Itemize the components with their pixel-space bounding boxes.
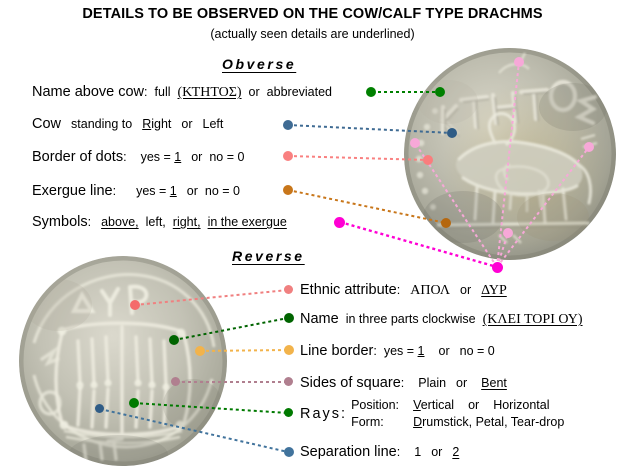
dot-symbol-right <box>584 142 594 152</box>
row-value-greek-full: (ΚΤΗΤΟΣ) <box>178 85 242 100</box>
row-option-two: 2 <box>452 445 459 459</box>
dot-anchor-rays <box>129 398 139 408</box>
rays-form-key: Form: <box>351 414 413 431</box>
dot-separation-line <box>284 447 294 457</box>
row-colon: : <box>373 344 376 358</box>
row-option-bent: Bent <box>481 376 507 390</box>
obverse-section-heading: Obverse <box>222 56 296 72</box>
row-colon: : <box>144 85 147 99</box>
row-mid: standing to <box>71 117 132 131</box>
row-colon: : <box>397 283 400 297</box>
row-label: Ethnic attribute <box>300 282 397 298</box>
row-or: or <box>181 117 192 131</box>
row-or: or <box>187 184 198 198</box>
rays-position-key: Position: <box>351 397 413 414</box>
dot-anchor-dots <box>423 155 433 165</box>
obverse-row-exergue-line: Exergue line:yes = 1orno = 0 <box>32 183 240 199</box>
row-or: or <box>249 85 260 99</box>
row-option-left: left, <box>146 215 166 229</box>
dot-anchor-name <box>169 335 179 345</box>
row-mid: in three parts clockwise <box>346 312 476 326</box>
dot-anchor-cow <box>447 128 457 138</box>
obverse-row-cow-standing: Cowstanding toRightorLeft <box>32 116 223 132</box>
rays-form-line: Form:Drumstick, Petal, Tear-drop <box>351 414 564 431</box>
row-option-dyr: ΔΥΡ <box>481 283 507 298</box>
row-label: Cow <box>32 116 61 132</box>
reverse-row-rays: Rays: Position:VerticalorHorizontal Form… <box>300 397 564 431</box>
row-label: Exergue line <box>32 183 113 199</box>
rays-form-options: Drumstick, Petal, Tear-drop <box>413 415 564 429</box>
obverse-row-symbols: Symbols:above,left,right,in the exergue <box>32 214 287 230</box>
dot-symbols <box>334 217 345 228</box>
row-or: or <box>431 445 442 459</box>
row-colon: : <box>123 150 126 164</box>
row-option-left: Left <box>203 117 224 131</box>
dot-anchor-exergue <box>441 218 451 228</box>
dot-border-of-dots <box>283 151 293 161</box>
row-option-no: no = 0 <box>205 184 240 198</box>
row-colon: : <box>401 376 404 390</box>
row-option-in-exergue: in the exergue <box>208 215 287 229</box>
obverse-row-border-of-dots: Border of dots:yes = 1orno = 0 <box>32 149 244 165</box>
row-option-yes: yes = 1 <box>141 150 182 164</box>
reverse-section-heading: Reverse <box>232 248 305 264</box>
dot-anchor-separation <box>95 404 104 413</box>
row-option-no: no = 0 <box>209 150 244 164</box>
dot-symbol-exergue <box>503 228 513 238</box>
rays-position-line: Position:VerticalorHorizontal <box>351 397 564 414</box>
dot-exergue-line <box>283 185 293 195</box>
row-label: Separation line <box>300 444 397 460</box>
reverse-row-separation-line: Separation line:1or2 <box>300 444 459 460</box>
rays-position-vertical: Vertical <box>413 398 454 412</box>
row-option-right: right, <box>173 215 201 229</box>
dot-anchor-legend <box>435 87 445 97</box>
page-title: DETAILS TO BE OBSERVED ON THE COW/CALF T… <box>0 6 625 22</box>
dot-name-three-parts <box>284 313 294 323</box>
row-colon: : <box>397 445 400 459</box>
reverse-row-name-three-parts: Namein three parts clockwise(ΚΛΕΙ ΤΟΡΙ Ο… <box>300 311 583 328</box>
row-colon: : <box>88 215 91 229</box>
row-or: or <box>456 376 467 390</box>
reverse-coin-image <box>18 255 228 467</box>
row-option-full: full <box>155 85 171 99</box>
row-label: Name <box>300 311 339 327</box>
dot-anchor-ethnic <box>130 300 140 310</box>
row-label: Symbols <box>32 214 88 230</box>
row-option-plain: Plain <box>418 376 446 390</box>
row-option-yes: yes = 1 <box>136 184 177 198</box>
row-label: Border of dots <box>32 149 123 165</box>
reverse-coin-art <box>18 255 228 467</box>
row-or: or <box>460 283 471 297</box>
dot-line-border <box>284 345 294 355</box>
dot-sides-of-square <box>284 377 293 386</box>
row-label: Name above cow <box>32 84 144 100</box>
row-or: or <box>439 344 450 358</box>
row-option-apol: ΑΠΟΛ <box>410 283 450 298</box>
row-label: Sides of square <box>300 375 401 391</box>
row-option-right: Right <box>142 117 171 131</box>
row-label: Line border <box>300 343 373 359</box>
page-subtitle: (actually seen details are underlined) <box>0 27 625 41</box>
row-colon: : <box>113 184 116 198</box>
rays-position-horizontal: Horizontal <box>493 398 549 412</box>
dot-name-above-cow <box>366 87 376 97</box>
rays-position-or: or <box>468 398 479 412</box>
row-option-no: no = 0 <box>460 344 495 358</box>
row-option-one: 1 <box>414 445 421 459</box>
row-option-above: above, <box>101 215 139 229</box>
dot-symbol-left <box>410 138 420 148</box>
row-label-rays: Rays: <box>300 406 347 422</box>
row-or: or <box>191 150 202 164</box>
dot-cow-standing <box>283 120 293 130</box>
obverse-row-name-above-cow: Name above cow:full(ΚΤΗΤΟΣ)orabbreviated <box>32 84 332 101</box>
poster-canvas: DETAILS TO BE OBSERVED ON THE COW/CALF T… <box>0 0 625 474</box>
dot-ethnic-attribute <box>284 285 293 294</box>
dot-rays <box>284 408 293 417</box>
reverse-row-line-border: Line border:yes = 1orno = 0 <box>300 343 495 359</box>
row-option-abbrev: abbreviated <box>267 85 332 99</box>
dot-symbol-above <box>514 57 524 67</box>
dot-anchor-square <box>171 377 180 386</box>
reverse-row-ethnic-attribute: Ethnic attribute:ΑΠΟΛorΔΥΡ <box>300 282 507 299</box>
dot-anchor-line-border <box>195 346 205 356</box>
dot-symbols-hub <box>492 262 503 273</box>
row-option-yes: yes = 1 <box>384 344 425 358</box>
row-value-greek-name: (ΚΛΕΙ ΤΟΡΙ ΟΥ) <box>483 312 583 327</box>
reverse-row-sides-of-square: Sides of square:PlainorBent <box>300 375 507 391</box>
